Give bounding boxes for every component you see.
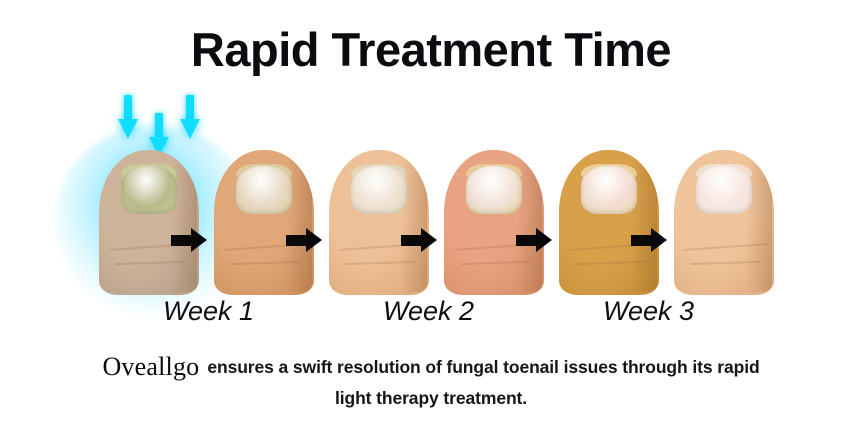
footer-line-1: Oveallgoensures a swift resolution of fu… bbox=[0, 348, 862, 386]
timeline-label-2: Week 2 bbox=[383, 296, 474, 327]
progression-arrow-2-icon bbox=[286, 228, 322, 252]
beam-arrow-right-icon bbox=[180, 95, 200, 141]
progression-arrow-1-icon bbox=[171, 228, 207, 252]
progression-arrow-5-icon bbox=[631, 228, 667, 252]
timeline-label-3: Week 3 bbox=[603, 296, 694, 327]
footer-caption: Oveallgoensures a swift resolution of fu… bbox=[0, 348, 862, 411]
footer-line-2: light therapy treatment. bbox=[0, 386, 862, 411]
timeline-label-1: Week 1 bbox=[163, 296, 254, 327]
progression-strip bbox=[0, 150, 862, 295]
progression-arrow-3-icon bbox=[401, 228, 437, 252]
timeline-labels: Week 1Week 2Week 3 bbox=[0, 296, 862, 330]
footer-line-1-text: ensures a swift resolution of fungal toe… bbox=[207, 357, 759, 377]
progression-arrow-list bbox=[0, 150, 862, 295]
progression-arrow-4-icon bbox=[516, 228, 552, 252]
beam-arrow-left-icon bbox=[118, 95, 138, 141]
page-title: Rapid Treatment Time bbox=[0, 24, 862, 76]
poster-canvas: Rapid Treatment Time Week 1Week 2Week 3 … bbox=[0, 0, 862, 429]
brand-logo: Oveallgo bbox=[102, 352, 199, 381]
